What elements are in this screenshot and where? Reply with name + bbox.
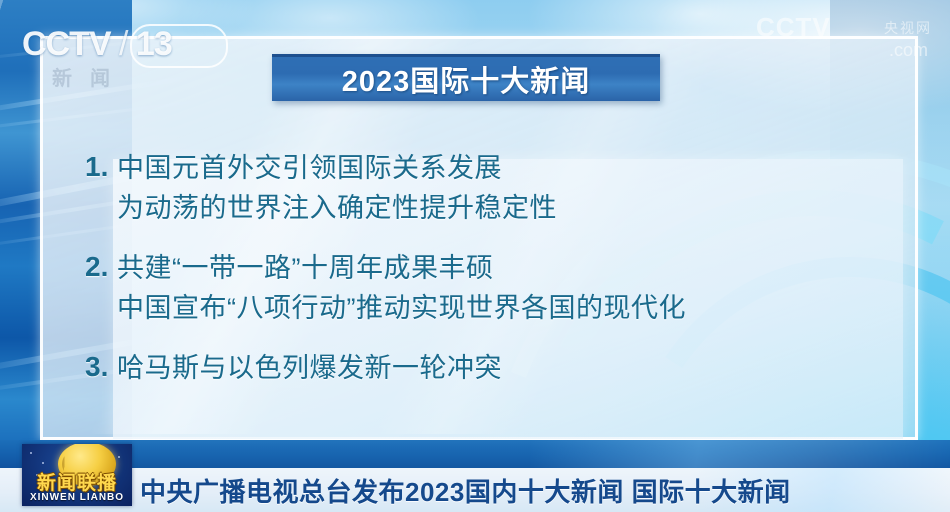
cctv-logo-text: CCTV [22, 25, 111, 63]
title-banner: 2023国际十大新闻 [272, 54, 660, 101]
list-item-body: 共建“一带一路”十周年成果丰硕 中国宣布“八项行动”推动实现世界各国的现代化 [117, 248, 875, 328]
star-dot [30, 452, 32, 454]
list-item: 1. 中国元首外交引领国际关系发展 为动荡的世界注入确定性提升稳定性 [85, 148, 875, 228]
ticker-text: 中央广播电视总台发布2023国内十大新闻 国际十大新闻 [140, 472, 791, 509]
ticker-shine [530, 440, 950, 468]
cctv-com-domain: .com [889, 40, 928, 61]
cctv-com-watermark: CCTV 央视网 .com [756, 14, 936, 62]
list-item: 2. 共建“一带一路”十周年成果丰硕 中国宣布“八项行动”推动实现世界各国的现代… [85, 248, 875, 328]
ticker-upper-band [0, 440, 950, 468]
xinwen-lianbo-cn: 新闻联播 [22, 468, 132, 495]
list-item-body: 中国元首外交引领国际关系发展 为动荡的世界注入确定性提升稳定性 [117, 148, 875, 228]
star-dot [118, 456, 120, 458]
list-item: 3. 哈马斯与以色列爆发新一轮冲突 [85, 348, 875, 388]
ticker-bar: 中央广播电视总台发布2023国内十大新闻 国际十大新闻 [0, 468, 950, 512]
cctv-com-cn: 央视网 [884, 18, 932, 38]
list-item-line: 为动荡的世界注入确定性提升稳定性 [117, 188, 875, 228]
page-title: 2023国际十大新闻 [342, 58, 591, 100]
list-item-number: 2. [85, 248, 117, 286]
star-dot [42, 462, 44, 464]
xinwen-lianbo-logo: 新闻联播 XINWEN LIANBO [22, 444, 132, 506]
news-watermark: 新闻 [52, 62, 128, 91]
list-item-line: 中国元首外交引领国际关系发展 [117, 148, 875, 188]
list-item-line: 哈马斯与以色列爆发新一轮冲突 [117, 348, 875, 388]
cctv13-logo: CCTV / 13 [22, 22, 242, 66]
broadcast-screen: CCTV / 13 新闻 CCTV 央视网 .com 2023国际十大新闻 1.… [0, 0, 950, 512]
xinwen-lianbo-en: XINWEN LIANBO [22, 492, 132, 503]
list-item-number: 3. [85, 348, 117, 386]
list-item-line: 共建“一带一路”十周年成果丰硕 [117, 248, 875, 288]
list-item-body: 哈马斯与以色列爆发新一轮冲突 [117, 348, 875, 388]
list-item-number: 1. [85, 148, 117, 186]
list-item-line: 中国宣布“八项行动”推动实现世界各国的现代化 [117, 288, 875, 328]
news-list: 1. 中国元首外交引领国际关系发展 为动荡的世界注入确定性提升稳定性 2. 共建… [85, 148, 875, 408]
cctv13-oval-outline [130, 24, 228, 68]
